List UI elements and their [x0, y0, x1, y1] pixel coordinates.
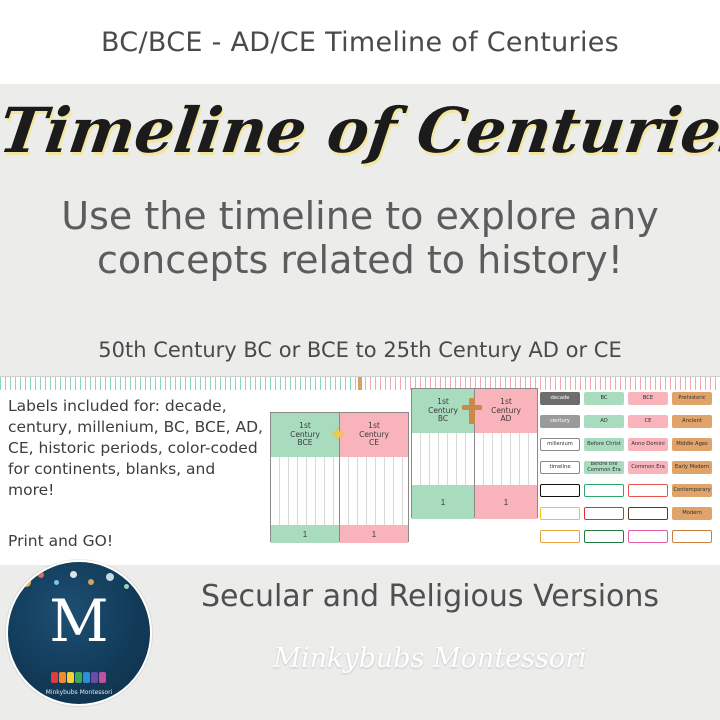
label-chip [584, 484, 624, 497]
label-chip-grid: decadeBCBCEPrehistoriccenturyADCEAncient… [540, 390, 716, 555]
card-bc-footer: 1 [412, 485, 474, 519]
range-text: 50th Century BC or BCE to 25th Century A… [98, 338, 621, 362]
label-chip: Prehistoric [672, 392, 712, 405]
card-bce-lines [271, 457, 339, 525]
religious-card-pair: 1stCenturyBC 1 1stCenturyAD 1 [411, 388, 539, 518]
label-chip: AD [584, 415, 624, 428]
brand-logo: M Minkybubs Montessori [6, 560, 152, 706]
card-ce-header: 1stCenturyCE [340, 413, 408, 457]
card-ad-lines [475, 433, 537, 485]
label-chip: decade [540, 392, 580, 405]
card-bce-header-text: 1stCenturyBCE [290, 422, 320, 448]
label-chip: century [540, 415, 580, 428]
star-icon: ✦ [330, 426, 346, 445]
cross-icon [469, 398, 475, 424]
card-bce-footer-text: 1 [303, 530, 307, 539]
card-ad-footer-text: 1 [504, 498, 508, 507]
logo-caption: Minkybubs Montessori [8, 689, 150, 696]
label-chip [584, 530, 624, 543]
label-chip: Modern [672, 507, 712, 520]
label-chip: Early Modern [672, 461, 712, 474]
card-ce-header-text: 1stCenturyCE [359, 422, 389, 448]
logo-dot [99, 672, 106, 683]
hero-subtitle: Use the timeline to explore any concepts… [6, 194, 714, 283]
label-chip [628, 507, 668, 520]
label-chip: CE [628, 415, 668, 428]
label-chip: Before Christ [584, 438, 624, 451]
feature-blurb: Labels included for: decade, century, mi… [8, 396, 263, 501]
label-chip: Before the Common Era [584, 461, 624, 474]
label-chip: BCE [628, 392, 668, 405]
label-chip: Anno Domini [628, 438, 668, 451]
label-chip: Contemporary [672, 484, 712, 497]
versions-text: Secular and Religious Versions [150, 579, 710, 614]
body-area: Labels included for: decade, century, mi… [0, 390, 720, 565]
hero-script-title: Timeline of Centuries [0, 94, 720, 167]
label-chip: Ancient [672, 415, 712, 428]
logo-dot [75, 672, 82, 683]
label-chip [628, 530, 668, 543]
label-chip [584, 507, 624, 520]
logo-dot [67, 672, 74, 683]
logo-dot [91, 672, 98, 683]
label-chip: Common Era [628, 461, 668, 474]
card-bc-footer-text: 1 [441, 498, 445, 507]
hero-panel: Timeline of Centuries Use the timeline t… [0, 84, 720, 324]
label-chip [672, 530, 712, 543]
header-bar: BC/BCE - AD/CE Timeline of Centuries [0, 0, 720, 84]
card-ad: 1stCenturyAD 1 [474, 388, 538, 518]
card-bc-header: 1stCenturyBC [412, 389, 474, 433]
card-ad-header-text: 1stCenturyAD [491, 398, 521, 424]
logo-dot [59, 672, 66, 683]
card-bce-header: 1stCenturyBCE [271, 413, 339, 457]
range-band: 50th Century BC or BCE to 25th Century A… [0, 324, 720, 376]
label-chip [540, 507, 580, 520]
label-chip: Middle Ages [672, 438, 712, 451]
logo-color-dots [8, 672, 150, 684]
brand-script-text: Minkybubs Montessori [150, 643, 710, 674]
card-ce: 1stCenturyCE 1 [339, 412, 409, 542]
card-bc-header-text: 1stCenturyBC [428, 398, 458, 424]
product-cover: BC/BCE - AD/CE Timeline of Centuries Tim… [0, 0, 720, 720]
card-ad-header: 1stCenturyAD [475, 389, 537, 433]
secular-card-pair: 1stCenturyBCE 1 1stCenturyCE 1 ✦ [270, 412, 410, 542]
page-title: BC/BCE - AD/CE Timeline of Centuries [101, 27, 619, 58]
label-chip: BC [584, 392, 624, 405]
label-chip [540, 484, 580, 497]
card-ce-footer: 1 [340, 525, 408, 543]
logo-dot [51, 672, 58, 683]
card-ce-lines [340, 457, 408, 525]
ruler-bc-section [0, 377, 360, 391]
card-bc-lines [412, 433, 474, 485]
label-chip [628, 484, 668, 497]
ruler-center-marker [358, 377, 362, 391]
label-chip: millenium [540, 438, 580, 451]
label-chip: timeline [540, 461, 580, 474]
label-chip [540, 530, 580, 543]
card-bce-footer: 1 [271, 525, 339, 543]
card-ad-footer: 1 [475, 485, 537, 519]
logo-dot [83, 672, 90, 683]
print-and-go-text: Print and GO! [8, 532, 113, 550]
card-ce-footer-text: 1 [372, 530, 376, 539]
logo-letter: M [8, 592, 150, 650]
